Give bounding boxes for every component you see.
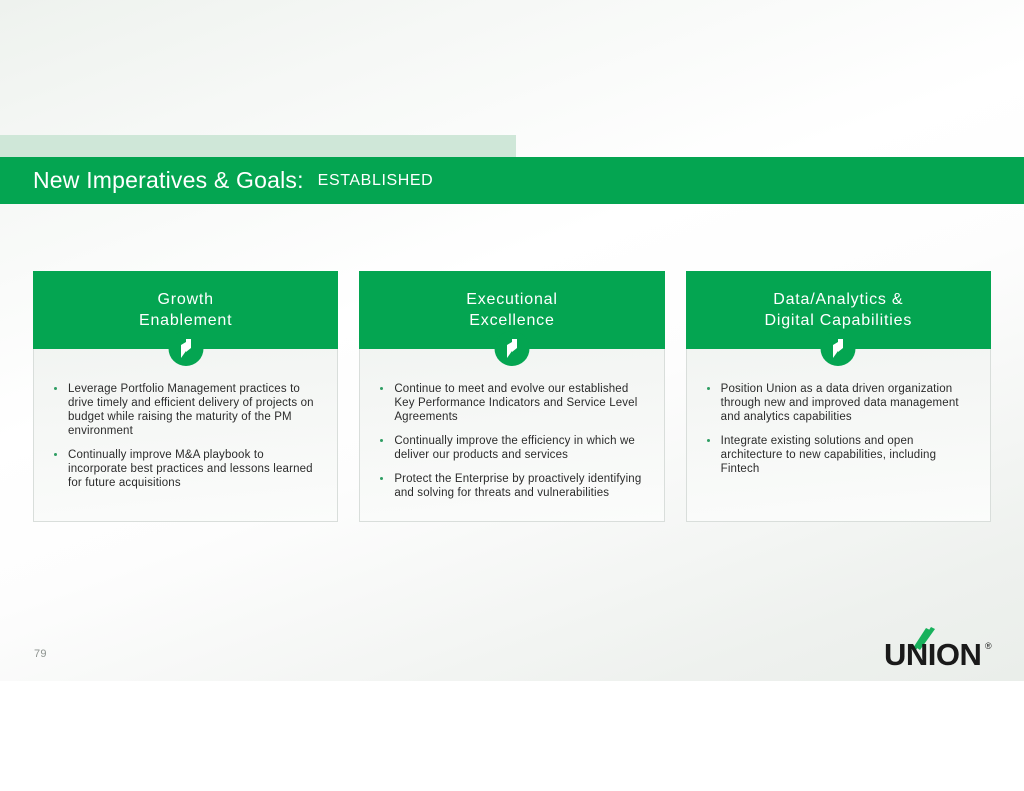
union-wordmark: UNION (884, 639, 981, 671)
union-stripes-icon (821, 331, 856, 366)
page-number: 79 (34, 648, 47, 660)
column-card-executional-excellence: Executional Excellence Continue to meet … (359, 271, 664, 522)
below-slide-whitespace (0, 681, 1024, 791)
list-item: Integrate existing solutions and open ar… (695, 434, 978, 476)
column-body-growth-enablement: Leverage Portfolio Management practices … (34, 349, 337, 521)
list-item: Protect the Enterprise by proactively id… (368, 472, 651, 500)
list-item: Continually improve the efficiency in wh… (368, 434, 651, 462)
page-title-qualifier: ESTABLISHED (318, 172, 434, 190)
union-stripes-icon (494, 331, 529, 366)
list-item: Leverage Portfolio Management practices … (42, 382, 325, 438)
column-header-label: Data/Analytics & Digital Capabilities (765, 289, 913, 331)
column-header-data-analytics-digital-capabilities: Data/Analytics & Digital Capabilities (686, 271, 991, 349)
registered-trademark-icon: ® (985, 641, 992, 651)
column-header-label: Growth Enablement (139, 289, 232, 331)
column-card-data-analytics-digital-capabilities: Data/Analytics & Digital Capabilities Po… (686, 271, 991, 522)
column-header-executional-excellence: Executional Excellence (359, 271, 664, 349)
column-body-executional-excellence: Continue to meet and evolve our establis… (360, 349, 663, 521)
column-header-label: Executional Excellence (466, 289, 558, 331)
column-card-growth-enablement: Growth Enablement Leverage Portfolio Man… (33, 271, 338, 522)
union-stripes-icon (168, 331, 203, 366)
list-item: Continue to meet and evolve our establis… (368, 382, 651, 424)
accent-strip (0, 135, 516, 157)
list-item: Position Union as a data driven organiza… (695, 382, 978, 424)
column-body-data-analytics-digital-capabilities: Position Union as a data driven organiza… (687, 349, 990, 521)
bullet-list: Leverage Portfolio Management practices … (42, 382, 325, 490)
list-item: Continually improve M&A playbook to inco… (42, 448, 325, 490)
page-title: New Imperatives & Goals: (33, 167, 304, 194)
union-logo: UNION ® (884, 627, 1002, 671)
bullet-list: Continue to meet and evolve our establis… (368, 382, 651, 500)
title-bar: New Imperatives & Goals: ESTABLISHED (0, 157, 1024, 204)
columns-container: Growth Enablement Leverage Portfolio Man… (33, 271, 991, 522)
slide-canvas: New Imperatives & Goals: ESTABLISHED Gro… (0, 0, 1024, 681)
column-header-growth-enablement: Growth Enablement (33, 271, 338, 349)
bullet-list: Position Union as a data driven organiza… (695, 382, 978, 476)
